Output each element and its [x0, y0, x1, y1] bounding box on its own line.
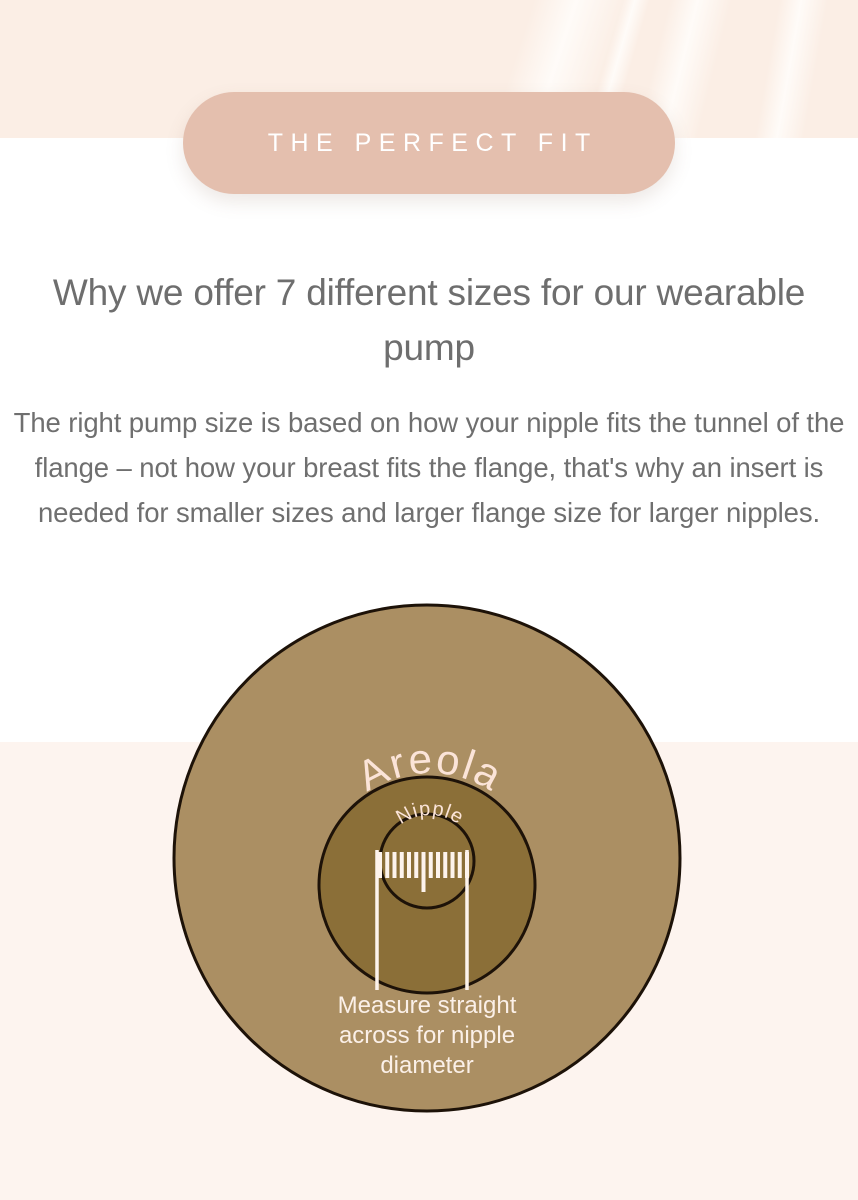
caption-line: across for nipple — [339, 1022, 515, 1049]
section-badge-label: THE PERFECT FIT — [260, 129, 598, 158]
page-root: THE PERFECT FIT Why we offer 7 different… — [0, 0, 858, 1200]
body-paragraph: The right pump size is based on how your… — [6, 400, 852, 535]
background-streak — [731, 0, 837, 138]
page-title: Why we offer 7 different sizes for our w… — [50, 265, 808, 375]
caption-line: diameter — [380, 1052, 473, 1079]
caption-line: Measure straight — [338, 992, 517, 1019]
anatomy-diagram: Areola Nipple Measure straight across fo… — [160, 595, 700, 1135]
section-badge: THE PERFECT FIT — [183, 92, 675, 194]
